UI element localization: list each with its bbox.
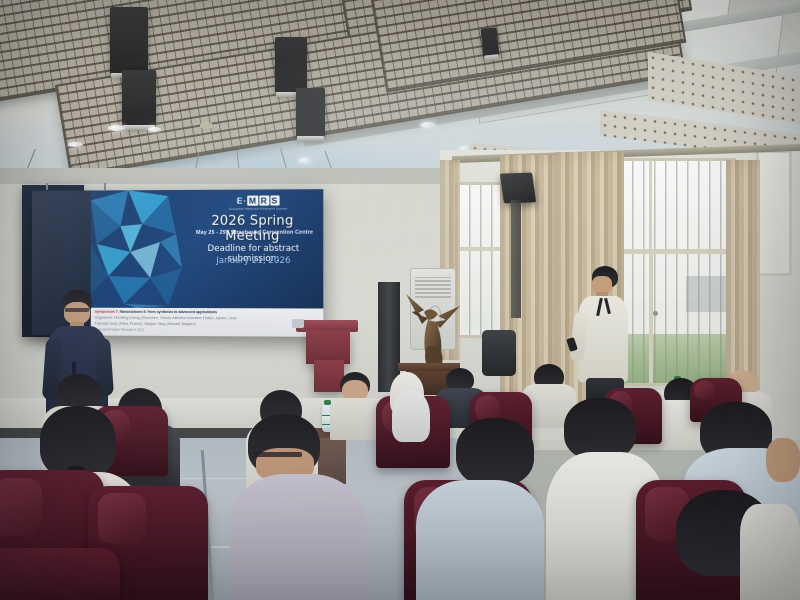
audience-head-front	[564, 398, 636, 460]
conference-hall-photo: E·MRS European Materials Research Societ…	[0, 0, 800, 600]
podium-microphone	[292, 319, 304, 328]
screen-hook	[46, 183, 48, 190]
window-main	[618, 158, 736, 386]
window-mullion	[621, 249, 733, 254]
window-far-right	[756, 150, 792, 276]
seat-highlight	[0, 478, 42, 537]
audience-face-front	[766, 438, 800, 482]
auditorium-seat[interactable]	[0, 548, 120, 600]
audience-glasses-icon	[566, 434, 594, 442]
window-glow	[759, 153, 789, 273]
wall-speaker	[500, 173, 536, 204]
window-security-bars	[621, 161, 733, 383]
window-mullion	[458, 247, 504, 251]
audience-torso-front	[230, 474, 366, 600]
podium	[306, 330, 350, 364]
screen-hook	[104, 183, 106, 190]
office-chair	[482, 330, 516, 376]
presenter-face	[64, 302, 90, 324]
audience-torso-front	[740, 504, 800, 600]
audience-torso	[330, 398, 382, 440]
audience-glasses-icon	[254, 452, 302, 457]
curtain-panel	[726, 160, 760, 390]
audience-torso-front	[416, 480, 544, 600]
seat-highlight	[694, 381, 715, 401]
window-mullion	[649, 161, 652, 249]
speaker-mount-pole	[511, 200, 521, 318]
audience-head-front	[456, 418, 534, 486]
seat-highlight	[98, 493, 146, 544]
presenter-glasses-icon	[65, 308, 89, 312]
window-handle[interactable]	[653, 311, 658, 316]
audience-headscarf	[392, 390, 430, 442]
wall-shadow	[0, 168, 455, 184]
window-mullion	[649, 249, 653, 383]
